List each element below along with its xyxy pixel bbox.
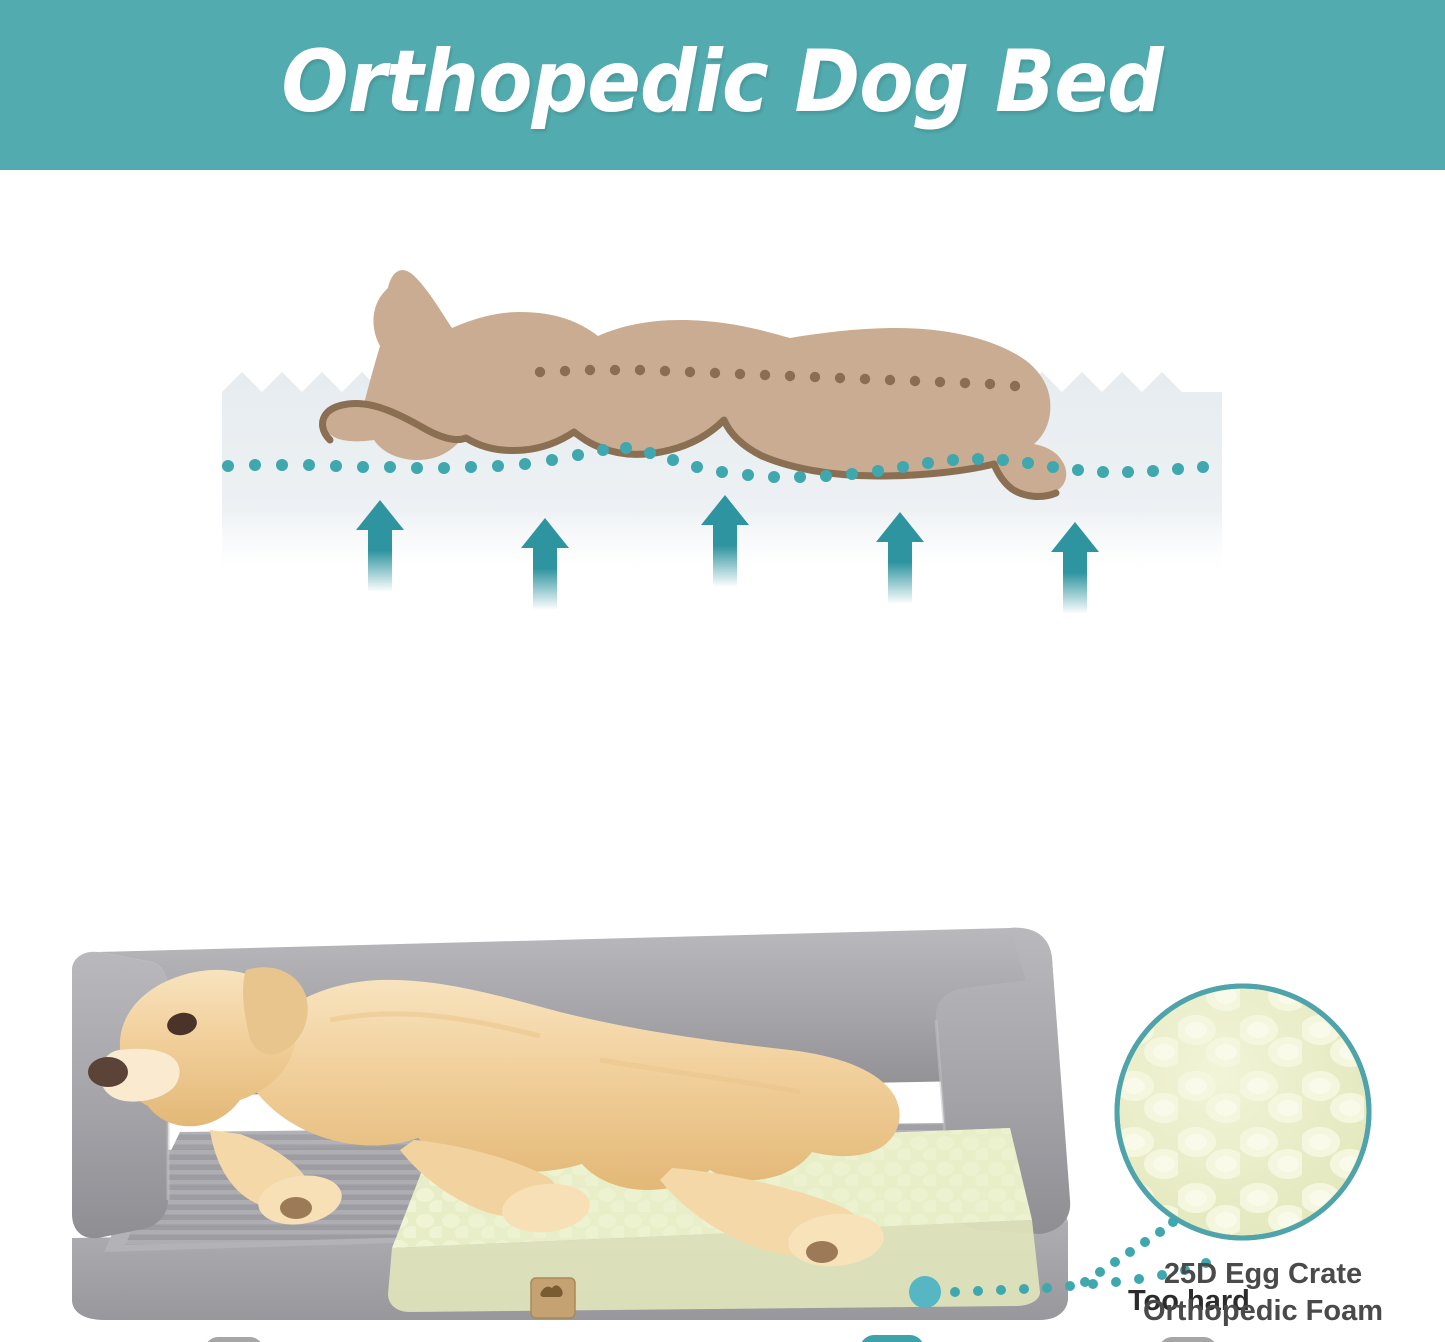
firmness-scale: Too soft Medium hardness Too hard 1 7.5 … (0, 630, 1445, 900)
callout-line-2: Orthopedic Foam (1098, 1293, 1428, 1330)
dog-paw-pad-1 (280, 1197, 312, 1219)
support-diagram (0, 170, 1445, 630)
callout-line-1: 25D Egg Crate (1098, 1256, 1428, 1293)
foam-marker (909, 1276, 941, 1308)
infographic-page: Orthopedic Dog Bed (0, 0, 1445, 1342)
brand-tag-group (531, 1278, 575, 1318)
header-banner: Orthopedic Dog Bed (0, 0, 1445, 170)
page-title: Orthopedic Dog Bed (282, 39, 1164, 131)
callout-label: 25D Egg Crate Orthopedic Foam (1098, 1256, 1428, 1330)
dog-nose (88, 1057, 128, 1087)
dog-rear-paw-pad (806, 1241, 838, 1263)
